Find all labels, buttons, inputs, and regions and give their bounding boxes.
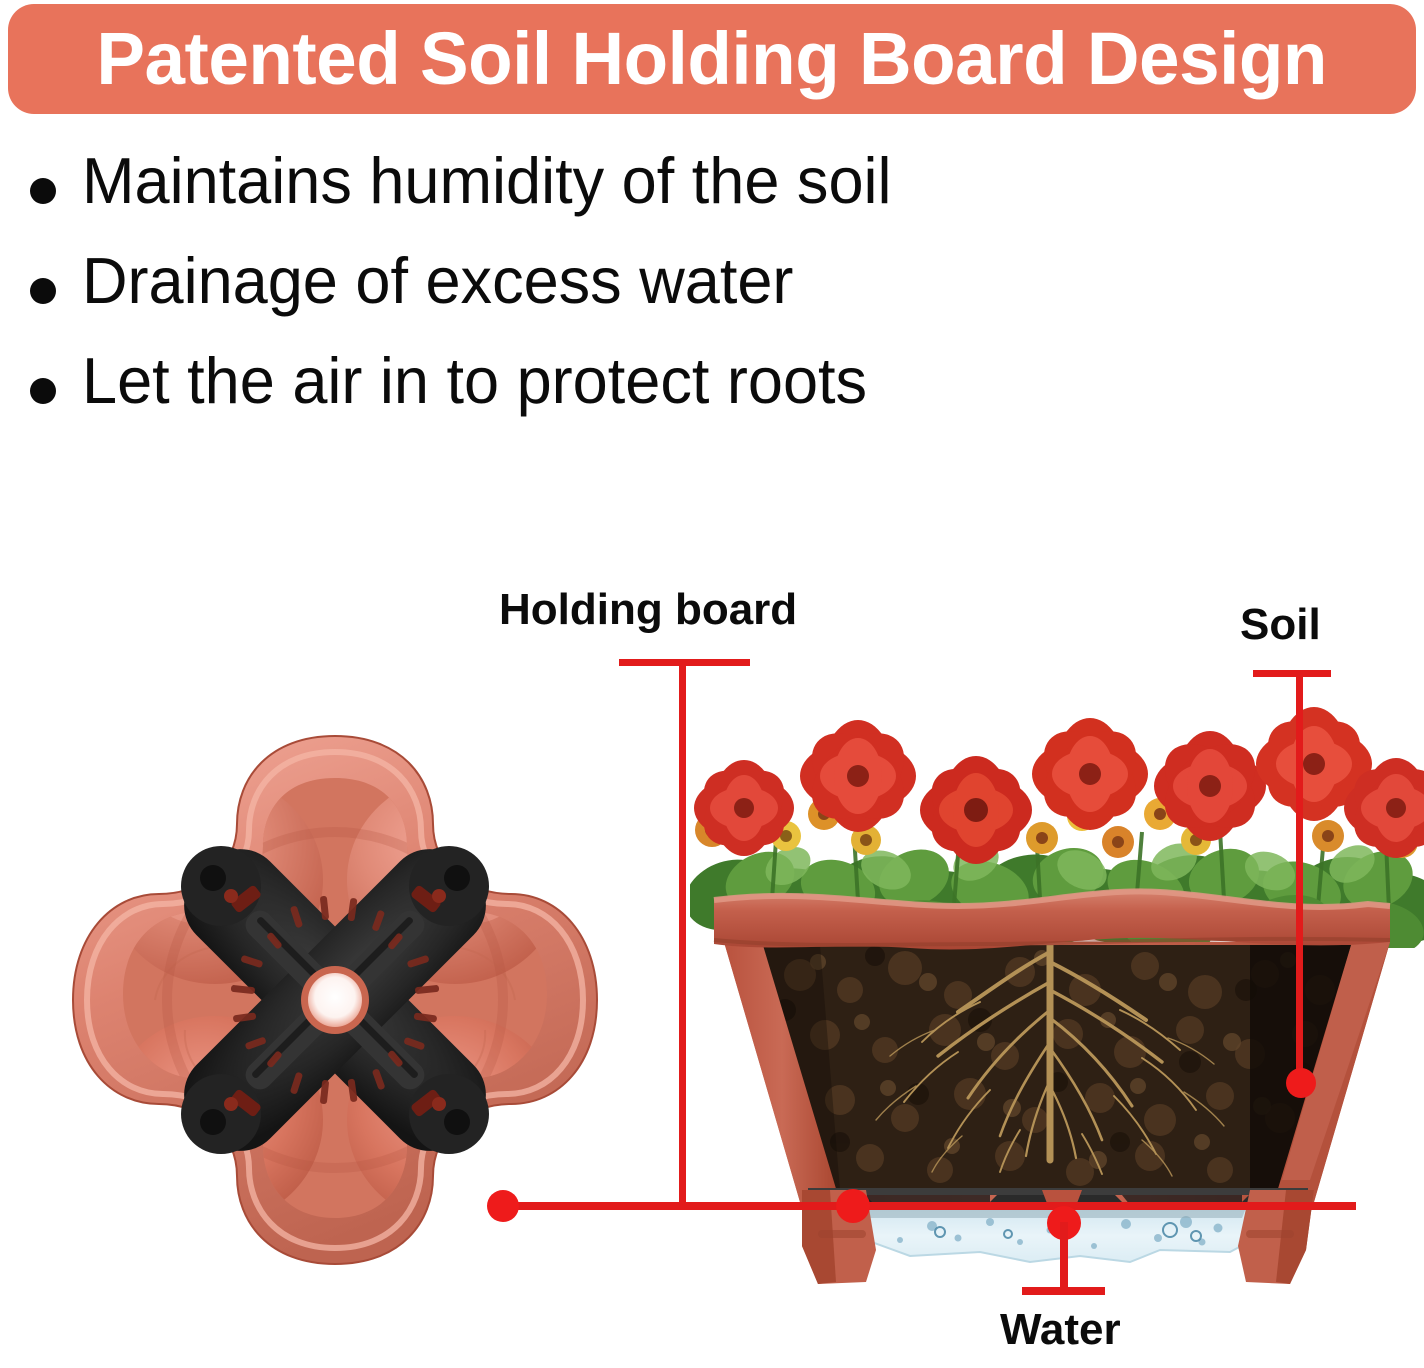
soil-leader-cap [1253,670,1331,677]
water-leader-stem [1060,1222,1068,1294]
soil-marker [1286,1068,1316,1098]
bullet-icon [30,378,56,404]
clover-planter-svg [35,700,635,1300]
cross-section-svg [690,690,1424,1290]
bullet-icon [30,278,56,304]
feature-label: Let the air in to protect roots [82,348,867,414]
holding-board-leader-stem [679,659,686,1207]
holding-board-marker-right [836,1189,870,1223]
feature-list: Maintains humidity of the soil Drainage … [30,148,1130,448]
planter-cross-section-image [690,690,1424,1290]
callout-label-soil: Soil [1240,603,1321,647]
holding-board-marker-left [487,1190,519,1222]
feature-item: Maintains humidity of the soil [30,148,1130,248]
clover-planter-top-view-image [35,700,635,1300]
feature-item: Drainage of excess water [30,248,1130,348]
feature-item: Let the air in to protect roots [30,348,1130,448]
feature-label: Drainage of excess water [82,248,793,314]
bullet-icon [30,178,56,204]
soil-leader-stem [1296,670,1303,1080]
holding-board-leader-link [496,1202,1356,1210]
page-title: Patented Soil Holding Board Design [97,22,1328,96]
feature-label: Maintains humidity of the soil [82,148,892,214]
callout-label-holding-board: Holding board [499,588,797,632]
water-leader-cap [1022,1287,1105,1295]
header-banner: Patented Soil Holding Board Design [8,4,1416,114]
callout-label-water: Water [1000,1308,1121,1352]
